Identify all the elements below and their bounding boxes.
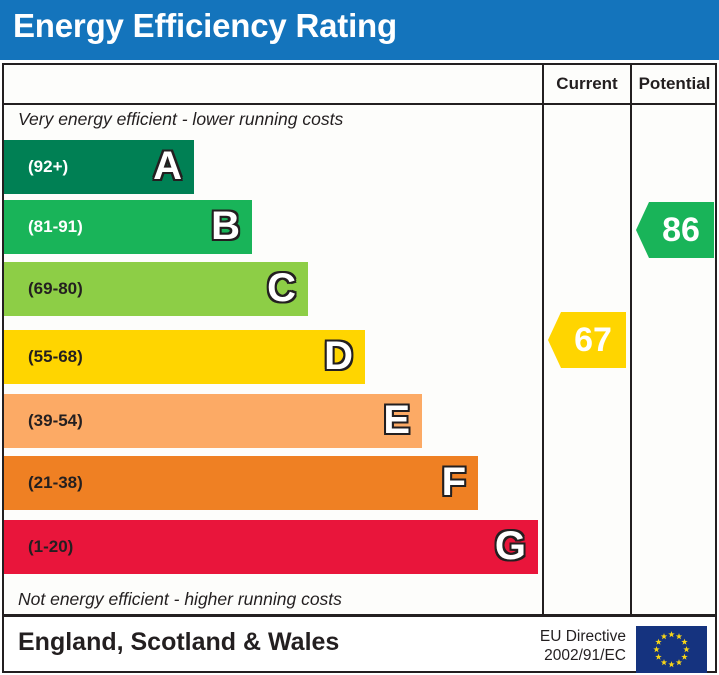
column-header-potential: Potential (632, 72, 717, 96)
rating-value-potential: 86 (650, 213, 700, 247)
band-range-label: (55-68) (28, 330, 83, 384)
column-divider-current (542, 63, 544, 616)
caption-inefficient: Not energy efficient - higher running co… (18, 589, 342, 610)
band-letter-e: E (383, 394, 410, 448)
rating-band-d: (55-68)D (4, 330, 365, 384)
header-row-divider (2, 103, 717, 105)
rating-band-g: (1-20)G (4, 520, 538, 574)
band-range-label: (39-54) (28, 394, 83, 448)
band-letter-b: B (211, 200, 240, 254)
rating-arrow-current: 67 (548, 312, 626, 368)
band-range-label: (92+) (28, 140, 68, 194)
rating-band-a: (92+)A (4, 140, 194, 194)
rating-band-b: (81-91)B (4, 200, 252, 254)
band-letter-g: G (495, 520, 526, 574)
footer-bar: England, Scotland & Wales EU Directive 2… (2, 617, 717, 673)
footer-directive: EU Directive 2002/91/EC (444, 627, 626, 665)
rating-arrow-potential: 86 (636, 202, 714, 258)
directive-line-1: EU Directive (444, 627, 626, 646)
band-range-label: (21-38) (28, 456, 83, 510)
rating-band-c: (69-80)C (4, 262, 308, 316)
band-range-label: (69-80) (28, 262, 83, 316)
title-bar: Energy Efficiency Rating (0, 0, 719, 60)
column-divider-potential (630, 63, 632, 616)
directive-line-2: 2002/91/EC (444, 646, 626, 665)
energy-efficiency-certificate: Energy Efficiency Rating Current Potenti… (0, 0, 719, 675)
band-letter-a: A (153, 140, 182, 194)
band-letter-f: F (442, 456, 466, 510)
band-letter-c: C (267, 262, 296, 316)
rating-band-f: (21-38)F (4, 456, 478, 510)
band-letter-d: D (324, 330, 353, 384)
footer-region-label: England, Scotland & Wales (18, 628, 339, 657)
rating-band-e: (39-54)E (4, 394, 422, 448)
band-range-label: (1-20) (28, 520, 73, 574)
eu-stars (636, 626, 707, 673)
caption-efficient: Very energy efficient - lower running co… (18, 109, 343, 130)
eu-flag-icon (636, 626, 707, 673)
rating-value-current: 67 (562, 323, 612, 357)
band-range-label: (81-91) (28, 200, 83, 254)
column-header-current: Current (544, 72, 630, 96)
page-title: Energy Efficiency Rating (13, 7, 397, 45)
